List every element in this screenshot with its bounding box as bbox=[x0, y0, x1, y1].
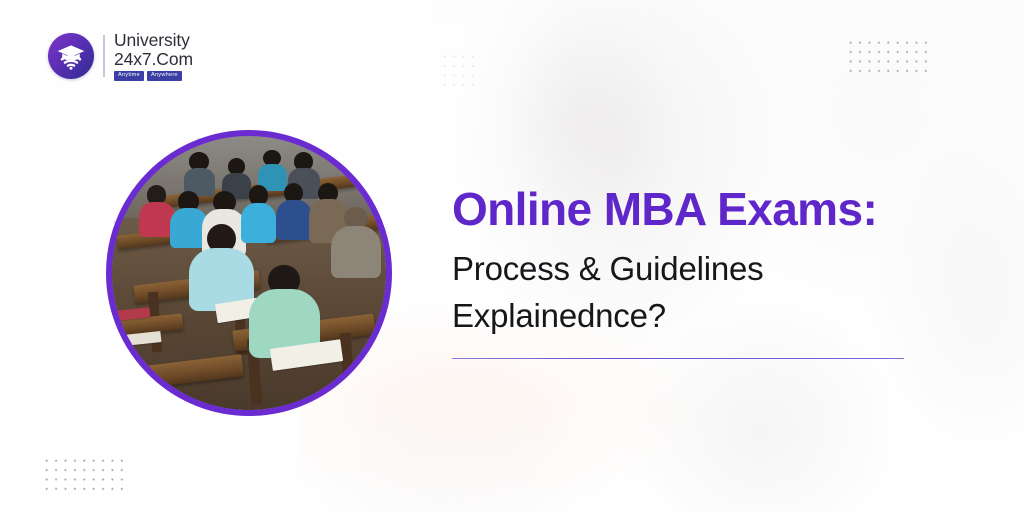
logo-divider bbox=[103, 35, 105, 77]
circular-photo-clip bbox=[112, 136, 386, 410]
graduation-cap-wifi-icon bbox=[48, 33, 94, 79]
brand-name-block: University 24x7.Com Anytime Anywhere bbox=[114, 31, 193, 81]
hero-divider bbox=[452, 358, 904, 360]
hero-copy: Online MBA Exams: Process & Guidelines E… bbox=[452, 186, 922, 359]
tagline-chip-anytime: Anytime bbox=[114, 71, 144, 81]
tagline-chip-anywhere: Anywhere bbox=[147, 71, 182, 81]
brand-name-line-1: University bbox=[114, 31, 193, 50]
student bbox=[183, 152, 216, 196]
dot-grid-bottom-left-icon bbox=[42, 456, 127, 492]
brand-name-line-2: 24x7.Com bbox=[114, 50, 193, 69]
student bbox=[331, 207, 380, 278]
brand-logo-lockup[interactable]: University 24x7.Com Anytime Anywhere bbox=[48, 31, 193, 81]
dot-grid-top-right-icon bbox=[846, 38, 930, 74]
student bbox=[276, 183, 312, 241]
hero-subline-2: Explainednce? bbox=[452, 293, 922, 340]
brand-tagline: Anytime Anywhere bbox=[114, 71, 193, 81]
page-title: Online MBA Exams: bbox=[452, 186, 922, 232]
hero-banner: University 24x7.Com Anytime Anywhere bbox=[0, 0, 1024, 512]
exam-hall-scene bbox=[112, 136, 386, 410]
student-foreground bbox=[189, 224, 255, 312]
hero-subline-1: Process & Guidelines bbox=[452, 246, 922, 293]
circular-photo bbox=[106, 130, 392, 416]
dot-grid-top-middle-icon bbox=[440, 52, 478, 90]
